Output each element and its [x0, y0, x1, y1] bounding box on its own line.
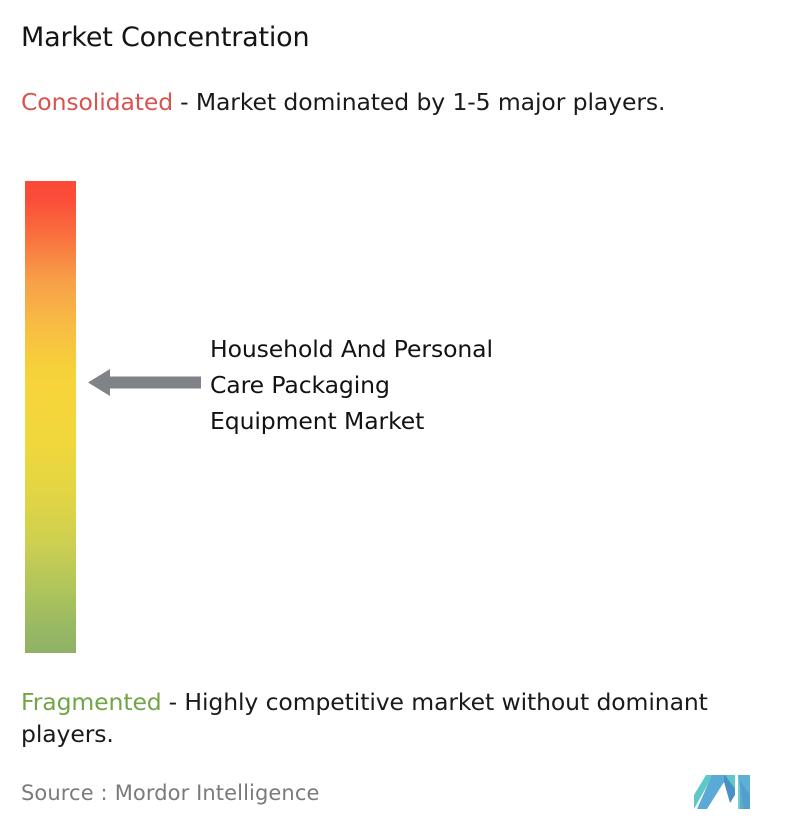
fragmented-legend-row: Fragmented- Highly competitive market wi…	[21, 686, 791, 750]
market-position-arrow	[88, 368, 201, 397]
page-title: Market Concentration	[21, 21, 309, 55]
consolidated-description: - Market dominated by 1-5 major players.	[180, 88, 665, 116]
fragmented-keyword: Fragmented	[21, 688, 162, 716]
mordor-intelligence-logo	[694, 773, 754, 809]
callout-line-1: Household And Personal	[210, 331, 630, 367]
source-label: Source :	[21, 781, 108, 805]
callout-line-3: Equipment Market	[210, 403, 630, 439]
market-concentration-infographic: Market Concentration Consolidated- Marke…	[0, 0, 796, 834]
mordor-intelligence-logo-icon	[694, 773, 754, 809]
consolidated-keyword: Consolidated	[21, 88, 173, 116]
market-callout-label: Household And Personal Care Packaging Eq…	[210, 331, 630, 439]
callout-line-2: Care Packaging	[210, 367, 630, 403]
consolidated-legend-row: Consolidated- Market dominated by 1-5 ma…	[21, 86, 761, 118]
source-line: Source :Mordor Intelligence	[21, 779, 320, 807]
source-value: Mordor Intelligence	[115, 781, 320, 805]
left-arrow-icon	[88, 368, 201, 397]
concentration-gradient-bar	[25, 181, 76, 653]
